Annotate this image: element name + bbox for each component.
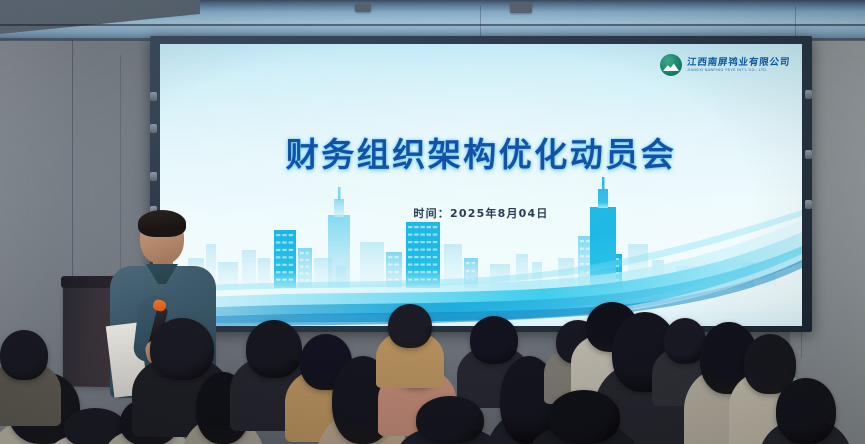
bezel-clip: [150, 124, 157, 133]
presentation-screen: 江西南屏鸨业有限公司 JIANGXI NANPING YEYE INT'L CO…: [160, 44, 802, 326]
audience-member-head: [150, 318, 214, 380]
audience-member-head: [388, 304, 432, 348]
logo-text-block: 江西南屏鸨业有限公司 JIANGXI NANPING YEYE INT'L CO…: [687, 58, 790, 73]
company-name-en: JIANGXI NANPING YEYE INT'L CO., LTD.: [687, 69, 790, 73]
audience-member-head: [548, 390, 620, 444]
bezel-clip: [150, 92, 157, 101]
audience-member-head: [416, 396, 484, 444]
ceiling-panel-line: [795, 6, 796, 40]
audience-member-head: [470, 316, 518, 364]
ribbon-wave-graphic: [160, 206, 802, 326]
ceiling-fixture-icon: [355, 4, 371, 12]
company-logo: 江西南屏鸨业有限公司 JIANGXI NANPING YEYE INT'L CO…: [660, 54, 790, 76]
bezel-clip: [150, 172, 157, 181]
ceiling-fixture-icon: [510, 2, 532, 13]
presenter-hair: [138, 210, 186, 237]
bezel-clip: [805, 150, 812, 159]
audience-member-head: [776, 378, 836, 444]
mountain-circle-icon: [660, 54, 682, 76]
ceiling-panel-line: [480, 6, 481, 40]
slide-subtitle-date: 时间：2025年8月04日: [160, 205, 802, 221]
presentation-photo: 江西南屏鸨业有限公司 JIANGXI NANPING YEYE INT'L CO…: [0, 0, 865, 444]
audience-member-head: [0, 330, 48, 380]
bezel-clip: [805, 90, 812, 99]
company-name-cn: 江西南屏鸨业有限公司: [686, 58, 790, 68]
audience-member-head: [246, 320, 302, 378]
ceiling-edge-line: [0, 24, 865, 26]
slide-title: 财务组织架构优化动员会: [160, 128, 802, 176]
bezel-clip: [805, 200, 812, 209]
